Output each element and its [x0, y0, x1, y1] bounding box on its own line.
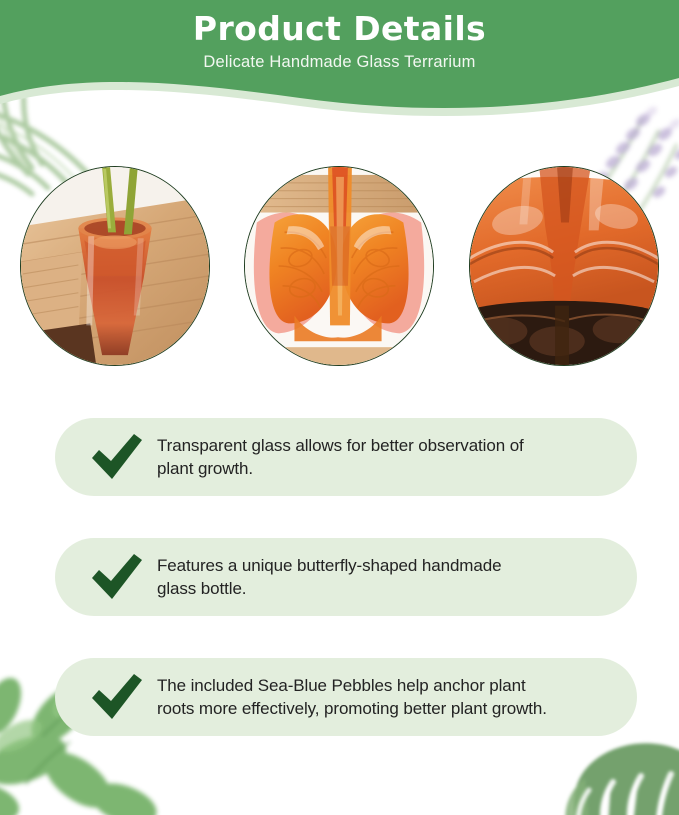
check-icon	[89, 431, 145, 483]
product-photo-gallery	[0, 166, 679, 366]
page-header: Product Details Delicate Handmade Glass …	[0, 0, 679, 120]
feature-text: Transparent glass allows for better obse…	[157, 434, 524, 481]
feature-item-1[interactable]: Transparent glass allows for better obse…	[55, 418, 637, 496]
page-title: Product Details	[0, 0, 679, 49]
photo-butterfly-glass-bottle[interactable]	[244, 166, 434, 366]
check-icon	[89, 671, 145, 723]
photo-glass-base-closeup[interactable]	[469, 166, 659, 366]
feature-item-3[interactable]: The included Sea-Blue Pebbles help ancho…	[55, 658, 637, 736]
feature-item-2[interactable]: Features a unique butterfly-shaped handm…	[55, 538, 637, 616]
check-icon	[89, 551, 145, 603]
feature-text: The included Sea-Blue Pebbles help ancho…	[157, 674, 547, 721]
page-subtitle: Delicate Handmade Glass Terrarium	[0, 49, 679, 72]
feature-text: Features a unique butterfly-shaped handm…	[157, 554, 501, 601]
photo-glass-vessel-on-wood[interactable]	[20, 166, 210, 366]
feature-list: Transparent glass allows for better obse…	[55, 418, 637, 736]
product-details-page: Product Details Delicate Handmade Glass …	[0, 0, 679, 815]
